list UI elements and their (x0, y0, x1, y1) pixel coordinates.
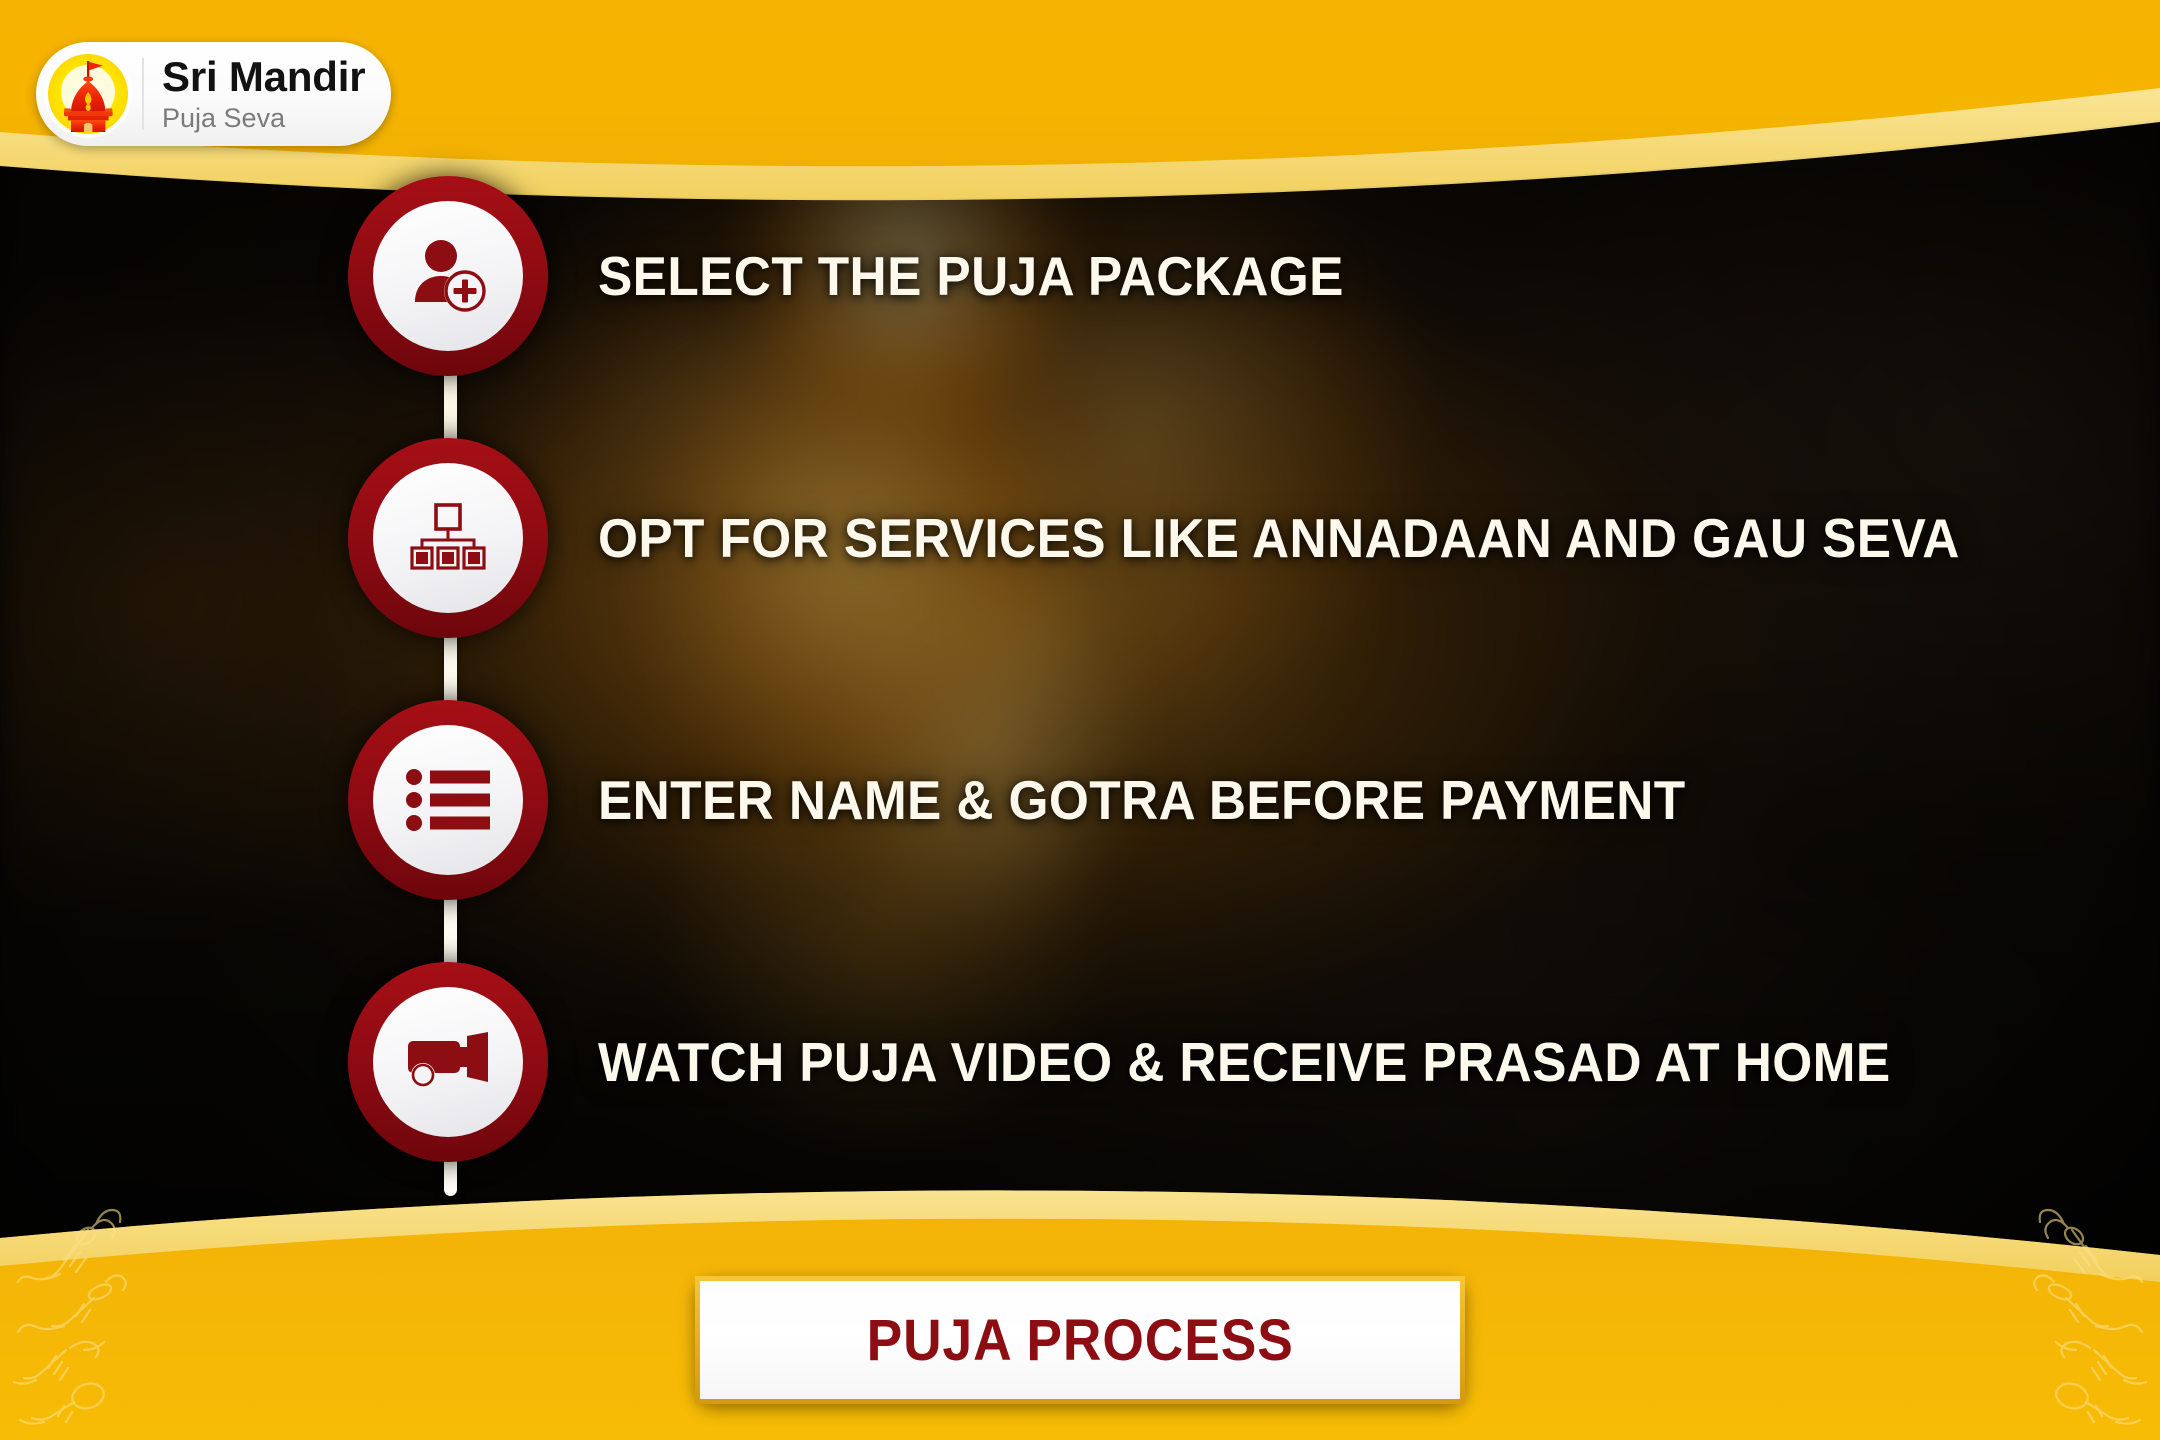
brand-logo-badge[interactable]: Sri Mandir Puja Seva (36, 42, 391, 146)
step-label: SELECT THE PUJA PACKAGE (598, 244, 1344, 308)
video-camera-icon (404, 1031, 492, 1093)
puja-process-button[interactable]: PUJA PROCESS (695, 1276, 1465, 1404)
step-icon-badge (348, 438, 548, 638)
puja-process-button-label: PUJA PROCESS (866, 1307, 1293, 1374)
puja-process-poster: Sri Mandir Puja Seva SELE (0, 0, 2160, 1440)
add-user-icon (405, 233, 491, 319)
hands-offering-icon-left (0, 1190, 330, 1440)
temple-icon (44, 50, 132, 138)
hierarchy-icon (407, 497, 489, 579)
step-label: OPT FOR SERVICES LIKE ANNADAAN AND GAU S… (598, 506, 1960, 570)
step-icon-badge (348, 962, 548, 1162)
step-item[interactable]: ENTER NAME & GOTRA BEFORE PAYMENT (348, 700, 2108, 900)
brand-subtitle: Puja Seva (162, 105, 365, 132)
step-label: WATCH PUJA VIDEO & RECEIVE PRASAD AT HOM… (598, 1030, 1891, 1094)
puja-steps-list: SELECT THE PUJA PACKAGE (348, 176, 2108, 1162)
hands-offering-icon-right (1830, 1190, 2160, 1440)
step-item[interactable]: WATCH PUJA VIDEO & RECEIVE PRASAD AT HOM… (348, 962, 2108, 1162)
step-item[interactable]: OPT FOR SERVICES LIKE ANNADAAN AND GAU S… (348, 438, 2108, 638)
step-icon-badge (348, 700, 548, 900)
logo-divider (142, 58, 144, 130)
brand-text: Sri Mandir Puja Seva (162, 56, 365, 132)
brand-title: Sri Mandir (162, 56, 365, 98)
step-label: ENTER NAME & GOTRA BEFORE PAYMENT (598, 768, 1686, 832)
list-icon (406, 769, 490, 831)
step-item[interactable]: SELECT THE PUJA PACKAGE (348, 176, 2108, 376)
step-icon-badge (348, 176, 548, 376)
